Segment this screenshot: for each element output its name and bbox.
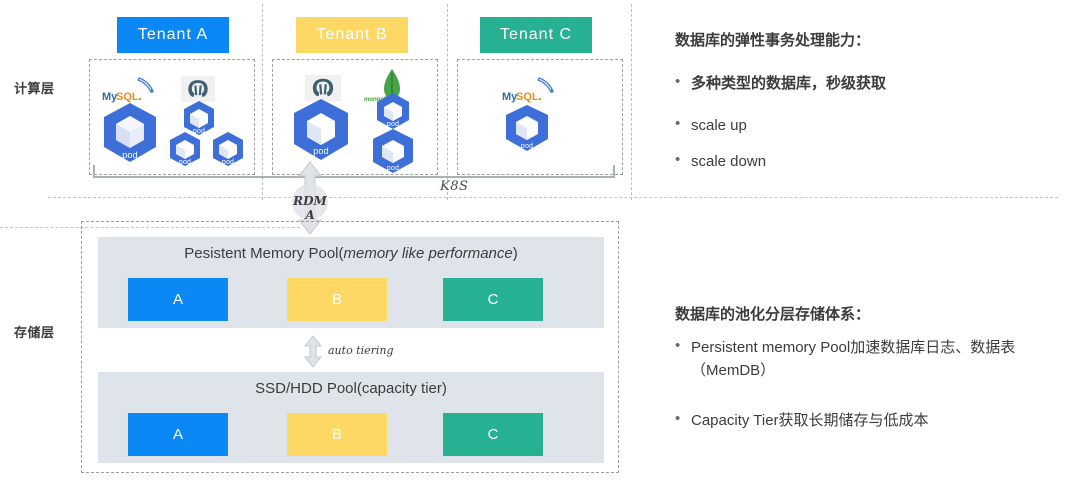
right-section-1-bullet-1: • 多种类型的数据库，秒级获取 (675, 72, 1065, 95)
right-section-1-bullet-3: • scale down (675, 150, 1065, 173)
tenant-column-separator-1 (262, 4, 263, 200)
pool-block-c[interactable]: C (443, 413, 543, 456)
pool-title-plain: Pesistent Memory Pool( (184, 245, 343, 262)
persistent-memory-pool-title: Pesistent Memory Pool(memory like perfor… (98, 245, 604, 262)
tenant-chip-a[interactable]: Tenant A (117, 17, 229, 53)
pod-caption: pod (100, 150, 160, 160)
pod-caption: pod (168, 159, 202, 166)
auto-tiering-arrow (303, 335, 323, 368)
right-section-2-bullet-2: • Capacity Tier获取长期储存与低成本 (675, 409, 1075, 432)
k8s-label: K8S (440, 179, 468, 194)
kubernetes-pod-icon: pod (100, 102, 160, 164)
k8s-bracket-right-tick (613, 165, 615, 177)
slide-canvas: 计算层 存储层 Tenant A My SQL pod (0, 0, 1080, 483)
right-section-2-heading: 数据库的池化分层存储体系： (675, 303, 870, 324)
pod-caption: pod (504, 143, 550, 150)
pool-block-c[interactable]: C (443, 278, 543, 321)
bullet-text: Capacity Tier获取长期储存与低成本 (691, 409, 929, 432)
k8s-bracket-line (93, 176, 615, 178)
pool-block-a[interactable]: A (128, 413, 228, 456)
bullet-dot-icon: • (675, 150, 681, 170)
tenant-chip-c[interactable]: Tenant C (480, 17, 592, 53)
pool-block-b[interactable]: B (287, 413, 387, 456)
postgresql-logo-icon (181, 76, 215, 102)
pool-title-tail: ) (513, 245, 518, 262)
bullet-text: Persistent memory Pool加速数据库日志、数据表（MemDB） (691, 336, 1055, 382)
ssd-hdd-pool-title: SSD/HDD Pool(capacity tier) (98, 380, 604, 397)
pool-block-b[interactable]: B (287, 278, 387, 321)
tenant-chip-b[interactable]: Tenant B (296, 17, 408, 53)
right-section-1-bullet-2: • scale up (675, 114, 1065, 137)
bullet-text: 多种类型的数据库，秒级获取 (691, 72, 886, 95)
layer-divider-top (48, 197, 1058, 198)
bullet-dot-icon: • (675, 336, 681, 356)
svg-text:SQL: SQL (516, 91, 539, 103)
storage-layer-label: 存储层 (14, 322, 55, 341)
bullet-text: scale down (691, 150, 766, 173)
kubernetes-pod-icon: pod (371, 128, 415, 174)
pod-caption: pod (375, 121, 411, 128)
bullet-dot-icon: • (675, 114, 681, 134)
rdma-label-line2: A (292, 209, 328, 221)
tenant-column-separator-2 (447, 4, 448, 200)
pool-title-plain: SSD/HDD Pool(capacity tier) (255, 380, 447, 397)
kubernetes-pod-icon: pod (375, 92, 411, 130)
pool-block-a[interactable]: A (128, 278, 228, 321)
pod-caption: pod (371, 165, 415, 172)
kubernetes-pod-icon: pod (290, 98, 352, 162)
auto-tiering-label: auto tiering (328, 344, 394, 357)
right-section-2-bullet-1: • Persistent memory Pool加速数据库日志、数据表（MemD… (675, 336, 1055, 382)
right-section-1-heading: 数据库的弹性事务处理能力： (675, 29, 870, 50)
pod-caption: pod (211, 159, 245, 166)
pod-caption: pod (290, 146, 352, 156)
kubernetes-pod-icon: pod (504, 104, 550, 152)
compute-layer-label: 计算层 (14, 78, 55, 97)
kubernetes-pod-icon: pod (211, 131, 245, 167)
tenant-column-separator-3 (631, 4, 632, 200)
kubernetes-pod-icon: pod (168, 131, 202, 167)
bullet-dot-icon: • (675, 72, 681, 92)
pool-title-italic: memory like performance (344, 245, 513, 262)
rdma-label-line1: RDM (292, 195, 328, 207)
k8s-bracket-left-tick (93, 165, 95, 177)
bullet-text: scale up (691, 114, 747, 137)
bullet-dot-icon: • (675, 409, 681, 429)
